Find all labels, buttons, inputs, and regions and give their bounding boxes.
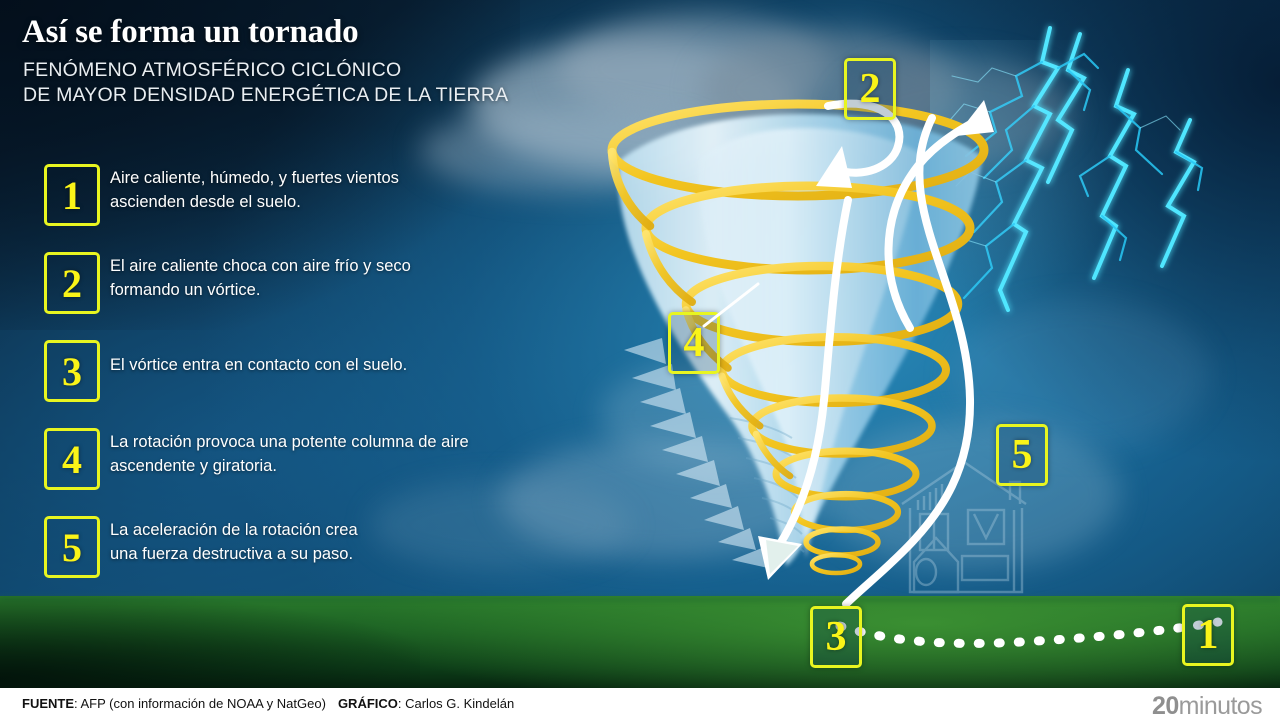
source-label: FUENTE: [22, 696, 74, 711]
step-badge-4: 4: [44, 428, 100, 490]
tornado-funnel: [580, 88, 1050, 628]
step-text-1: Aire caliente, húmedo, y fuertes vientos…: [110, 167, 610, 214]
ground-shadow: [0, 596, 420, 688]
list-item: 1 Aire caliente, húmedo, y fuertes vient…: [44, 164, 604, 252]
step-badge-3: 3: [44, 340, 100, 402]
infographic-root: Así se forma un tornado FENÓMENO ATMOSFÉ…: [0, 0, 1280, 720]
logo-word: minutos: [1179, 692, 1262, 720]
scene-marker-1: 1: [1182, 604, 1234, 666]
step-line: ascendente y giratoria.: [110, 455, 610, 479]
step-text-5: La aceleración de la rotación crea una f…: [110, 519, 610, 566]
step-badge-1: 1: [44, 164, 100, 226]
list-item: 3 El vórtice entra en contacto con el su…: [44, 340, 604, 428]
step-line: una fuerza destructiva a su paso.: [110, 543, 610, 567]
page-title: Así se forma un tornado: [22, 14, 358, 51]
credits: FUENTE: AFP (con información de NOAA y N…: [22, 696, 514, 711]
step-text-4: La rotación provoca una potente columna …: [110, 431, 610, 478]
list-item: 2 El aire caliente choca con aire frío y…: [44, 252, 604, 340]
scene-marker-5: 5: [996, 424, 1048, 486]
step-line: Aire caliente, húmedo, y fuertes vientos: [110, 167, 610, 191]
graphic-label: GRÁFICO: [338, 696, 398, 711]
steps-list: 1 Aire caliente, húmedo, y fuertes vient…: [44, 164, 604, 604]
source-value: : AFP (con información de NOAA y NatGeo): [74, 696, 326, 711]
step-line: La aceleración de la rotación crea: [110, 519, 610, 543]
step-badge-2: 2: [44, 252, 100, 314]
step-text-2: El aire caliente choca con aire frío y s…: [110, 255, 610, 302]
marker-4-leader-line: [700, 278, 770, 330]
step-line: La rotación provoca una potente columna …: [110, 431, 610, 455]
step-badge-5: 5: [44, 516, 100, 578]
step-line: El vórtice entra en contacto con el suel…: [110, 354, 610, 378]
graphic-value: : Carlos G. Kindelán: [398, 696, 514, 711]
subtitle-line-1: FENÓMENO ATMOSFÉRICO CICLÓNICO: [23, 58, 508, 83]
list-item: 5 La aceleración de la rotación crea una…: [44, 516, 604, 604]
page-subtitle: FENÓMENO ATMOSFÉRICO CICLÓNICO DE MAYOR …: [23, 58, 508, 108]
logo-number: 20: [1152, 692, 1179, 720]
scene-marker-2: 2: [844, 58, 896, 120]
scene-marker-3: 3: [810, 606, 862, 668]
tornado-path-dotted-tail: [820, 588, 1240, 658]
step-line: ascienden desde el suelo.: [110, 191, 610, 215]
subtitle-line-2: DE MAYOR DENSIDAD ENERGÉTICA DE LA TIERR…: [23, 83, 508, 108]
step-line: El aire caliente choca con aire frío y s…: [110, 255, 610, 279]
list-item: 4 La rotación provoca una potente column…: [44, 428, 604, 516]
brand-logo: 20minutos: [1152, 692, 1262, 720]
step-text-3: El vórtice entra en contacto con el suel…: [110, 354, 610, 378]
step-line: formando un vórtice.: [110, 279, 610, 303]
